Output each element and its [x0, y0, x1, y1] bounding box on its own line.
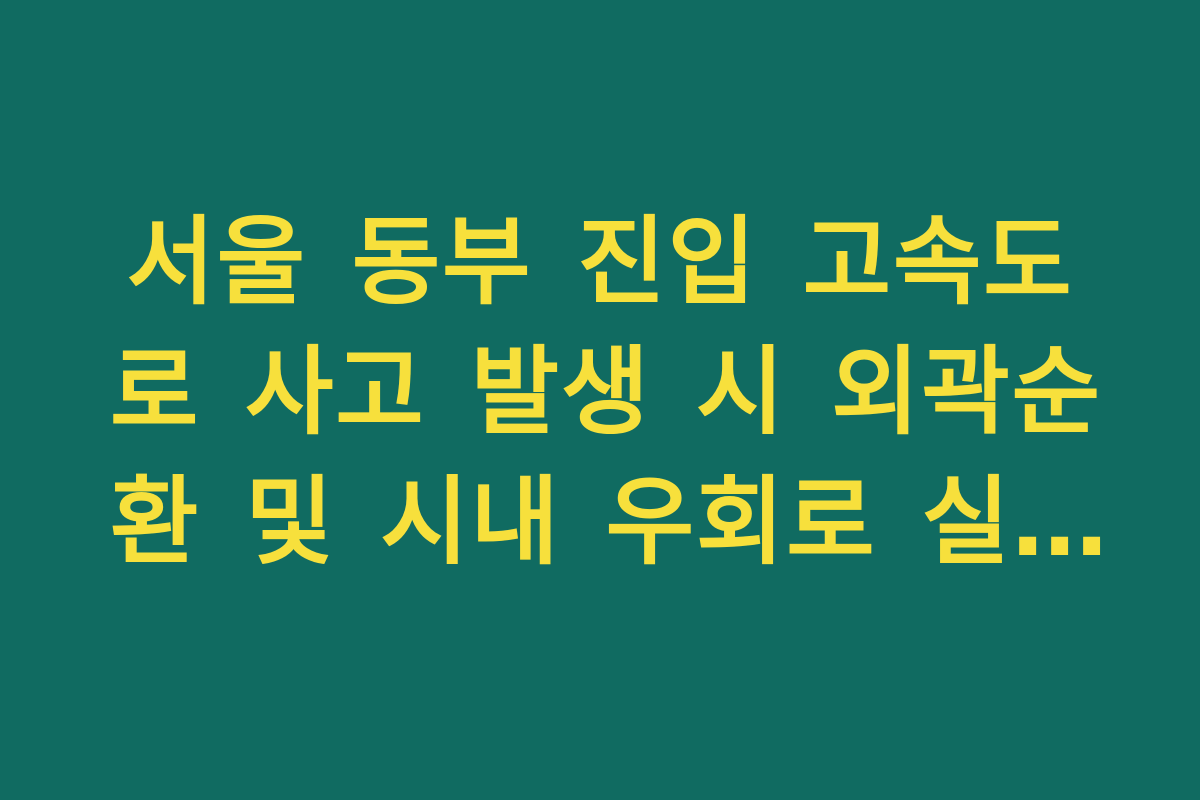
headline-line-3: 환 및 시내 우회로 실… [110, 457, 1090, 587]
text-card: 서울 동부 진입 고속도 로 사고 발생 시 외곽순 환 및 시내 우회로 실… [0, 0, 1200, 800]
headline-line-1: 서울 동부 진입 고속도 [110, 197, 1090, 327]
headline-line-2: 로 사고 발생 시 외곽순 [110, 327, 1090, 457]
headline-text-block: 서울 동부 진입 고속도 로 사고 발생 시 외곽순 환 및 시내 우회로 실… [110, 197, 1090, 587]
